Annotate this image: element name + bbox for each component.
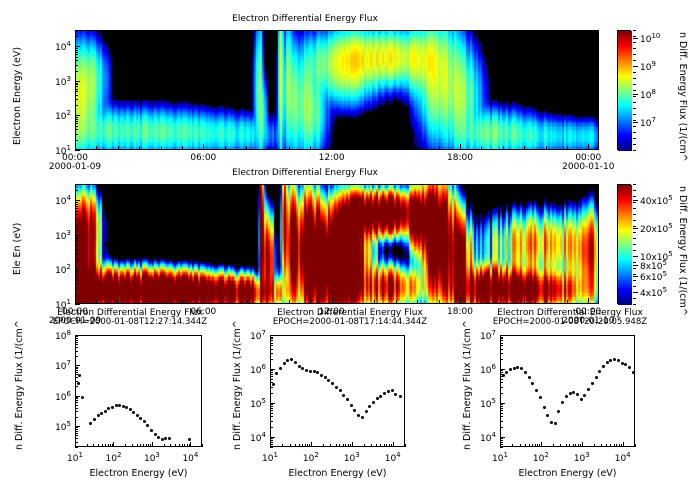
ytick-label: 107	[39, 359, 71, 372]
data-point	[115, 404, 118, 407]
ytick-label: 104	[43, 40, 71, 53]
colorbar-tick-minor	[633, 304, 636, 305]
spectrogram1-colorbar	[617, 30, 631, 150]
ytick-label: 105	[39, 420, 71, 433]
ytick-label: 104	[43, 194, 71, 207]
colorbar-tick-mark	[633, 265, 638, 266]
xtick-minor	[405, 444, 406, 447]
colorbar-tick-minor	[633, 280, 636, 281]
data-point	[324, 376, 327, 379]
colorbar-tick-minor	[633, 72, 636, 73]
data-point	[100, 412, 103, 415]
data-point	[339, 389, 342, 392]
colorbar-tick-minor	[633, 268, 636, 269]
colorbar-tick-minor	[633, 196, 636, 197]
data-point	[331, 382, 334, 385]
xtick-label: 103	[566, 451, 598, 464]
colorbar-tick-minor	[633, 102, 636, 103]
data-point	[111, 406, 114, 409]
data-point	[188, 438, 191, 441]
xtick-label: 103	[136, 451, 168, 464]
data-point	[168, 437, 171, 440]
spectrum3-xlabel: Electron Energy (eV)	[500, 468, 635, 479]
colorbar-tick-minor	[633, 208, 636, 209]
data-point	[275, 372, 278, 375]
data-point	[561, 401, 564, 404]
data-point	[357, 414, 360, 417]
data-point	[546, 414, 549, 417]
data-point	[628, 366, 631, 369]
spectrogram2-colorbar	[617, 184, 631, 304]
spectrum2-epoch: EPOCH=2000-01-08T17:14:44.344Z	[250, 317, 450, 327]
data-point	[557, 410, 560, 413]
xtick-label: 102	[525, 451, 557, 464]
colorbar-tick-minor	[633, 232, 636, 233]
spectrogram1-plot-area	[75, 30, 599, 150]
spectrogram2-plot-area	[75, 184, 599, 304]
data-point	[161, 438, 164, 441]
data-point	[383, 392, 386, 395]
xtick-label: 18:00	[436, 153, 484, 163]
data-point	[107, 407, 110, 410]
data-point	[580, 398, 583, 401]
data-point	[372, 401, 375, 404]
colorbar-tick-minor	[633, 78, 636, 79]
spectrum3-plot-area	[500, 335, 635, 447]
xtick-label: 102	[295, 451, 327, 464]
spectrum2-plot-area	[270, 335, 405, 447]
spectrogram2-colorbar-label: n Diff. Energy Flux (1/(cm^	[677, 186, 688, 316]
colorbar-tick-label: 10x105	[640, 250, 673, 263]
colorbar-tick-minor	[633, 66, 636, 67]
data-point	[621, 362, 624, 365]
data-point	[531, 382, 534, 385]
colorbar-tick-minor	[633, 256, 636, 257]
data-point	[305, 369, 308, 372]
data-point	[125, 406, 128, 409]
xtick-label: 102	[97, 451, 129, 464]
xtick-label: 06:00	[179, 153, 227, 163]
data-point	[346, 398, 349, 401]
data-point	[129, 408, 132, 411]
ytick-minor	[75, 447, 78, 448]
colorbar-tick-mark	[633, 66, 638, 67]
colorbar-tick-minor	[633, 244, 636, 245]
xtick-label: 101	[484, 451, 516, 464]
xtick-label: 00:00	[51, 153, 99, 163]
data-point	[122, 405, 125, 408]
colorbar-tick-minor	[633, 150, 636, 151]
data-point	[376, 397, 379, 400]
colorbar-tick-mark	[633, 122, 638, 123]
xtick-minor	[635, 444, 636, 447]
colorbar-tick-label: 1010	[640, 32, 660, 45]
data-point	[290, 358, 293, 361]
colorbar-tick-minor	[633, 60, 636, 61]
data-point	[513, 367, 516, 370]
data-point	[320, 374, 323, 377]
colorbar-tick-label: 40x105	[640, 194, 673, 207]
data-point	[283, 362, 286, 365]
data-point	[286, 359, 289, 362]
data-point	[365, 410, 368, 413]
spectrum1-epoch: EPOCH=2000-01-08T12:27:14.344Z	[30, 317, 230, 327]
ytick-mark	[75, 150, 80, 151]
data-point	[516, 366, 519, 369]
colorbar-tick-mark	[633, 228, 638, 229]
colorbar-tick-minor	[633, 48, 636, 49]
spectrum1-ylabel: n Diff. Energy Flux (1/(cm^	[14, 320, 25, 450]
colorbar-tick-mark	[633, 256, 638, 257]
colorbar-tick-minor	[633, 214, 636, 215]
spectrogram2-title: Electron Differential Energy Flux	[0, 168, 610, 178]
colorbar-tick-minor	[633, 190, 636, 191]
spectrogram2-ylabel: Ele En (eV)	[12, 223, 23, 275]
data-point	[539, 396, 542, 399]
spectrogram1-colorbar-label: n Diff. Energy Flux (1/(cm^	[677, 32, 688, 162]
spectrum1-plot-area	[75, 335, 202, 447]
colorbar-tick-minor	[633, 220, 636, 221]
ytick-label: 106	[39, 390, 71, 403]
data-point	[595, 376, 598, 379]
data-point	[554, 422, 557, 425]
data-point	[528, 376, 531, 379]
colorbar-tick-minor	[633, 90, 636, 91]
data-point	[502, 374, 505, 377]
data-point	[335, 386, 338, 389]
data-point	[327, 379, 330, 382]
spectrum2-ylabel: n Diff. Energy Flux (1/(cm^	[232, 320, 243, 450]
colorbar-tick-minor	[633, 126, 636, 127]
spectrum3-ylabel: n Diff. Energy Flux (1/(cm^	[462, 320, 473, 450]
colorbar-tick-minor	[633, 30, 636, 31]
colorbar-tick-label: 108	[640, 88, 656, 101]
data-point	[576, 393, 579, 396]
colorbar-tick-minor	[633, 54, 636, 55]
colorbar-tick-minor	[633, 250, 636, 251]
colorbar-tick-mark	[633, 38, 638, 39]
data-point	[104, 410, 107, 413]
data-point	[520, 367, 523, 370]
colorbar-tick-minor	[633, 42, 636, 43]
data-point	[509, 368, 512, 371]
data-point	[543, 406, 546, 409]
data-point	[617, 359, 620, 362]
xtick-label: 103	[336, 451, 368, 464]
colorbar-tick-minor	[633, 144, 636, 145]
colorbar-tick-mark	[633, 94, 638, 95]
data-point	[368, 405, 371, 408]
ytick-mark	[75, 304, 80, 305]
spectrogram1-ylabel: Electron Energy (eV)	[12, 47, 23, 145]
colorbar-tick-mark	[633, 276, 638, 277]
data-point	[154, 433, 157, 436]
data-point	[97, 414, 100, 417]
data-point	[379, 395, 382, 398]
colorbar-tick-minor	[633, 262, 636, 263]
data-point	[569, 392, 572, 395]
data-point	[353, 409, 356, 412]
data-point	[136, 414, 139, 417]
data-point	[361, 416, 364, 419]
data-point	[294, 361, 297, 364]
data-point	[301, 367, 304, 370]
data-point	[524, 371, 527, 374]
data-point	[387, 390, 390, 393]
data-point	[132, 411, 135, 414]
colorbar-tick-minor	[633, 184, 636, 185]
ytick-label: 108	[39, 329, 71, 342]
spectrum2-xlabel: Electron Energy (eV)	[270, 468, 405, 479]
data-point	[118, 404, 121, 407]
xtick-label: 104	[607, 451, 639, 464]
data-point	[535, 389, 538, 392]
data-point	[316, 371, 319, 374]
colorbar-tick-minor	[633, 114, 636, 115]
data-point	[139, 417, 142, 420]
colorbar-tick-minor	[633, 238, 636, 239]
data-point	[505, 371, 508, 374]
data-point	[309, 370, 312, 373]
data-point	[565, 395, 568, 398]
data-point	[77, 382, 80, 385]
data-point	[550, 421, 553, 424]
colorbar-tick-minor	[633, 96, 636, 97]
colorbar-tick-label: 109	[640, 60, 656, 73]
data-point	[609, 359, 612, 362]
data-point	[602, 365, 605, 368]
data-point	[89, 422, 92, 425]
data-point	[613, 358, 616, 361]
colorbar-tick-label: 4x105	[640, 286, 667, 299]
colorbar-tick-minor	[633, 274, 636, 275]
xtick-minor	[202, 444, 203, 447]
data-point	[298, 365, 301, 368]
data-point	[583, 394, 586, 397]
data-point	[143, 420, 146, 423]
data-point	[272, 383, 275, 386]
data-point	[279, 367, 282, 370]
colorbar-tick-minor	[633, 286, 636, 287]
spectrum3-epoch: EPOCH=2000-01-08T20:20:05.948Z	[465, 317, 675, 327]
ytick-label: 103	[43, 229, 71, 242]
data-point	[313, 370, 316, 373]
data-point	[78, 374, 81, 377]
colorbar-tick-label: 107	[640, 116, 656, 129]
ytick-minor	[270, 447, 273, 448]
colorbar-tick-minor	[633, 120, 636, 121]
colorbar-tick-minor	[633, 84, 636, 85]
data-point	[598, 370, 601, 373]
data-point	[157, 436, 160, 439]
ytick-label: 101	[43, 144, 71, 157]
data-point	[624, 363, 627, 366]
xtick-label: 12:00	[308, 153, 356, 163]
colorbar-tick-label: 20x105	[640, 222, 673, 235]
colorbar-tick-label: 6x105	[640, 270, 667, 283]
data-point	[146, 424, 149, 427]
xtick-label: 00:00	[564, 153, 612, 163]
colorbar-tick-minor	[633, 202, 636, 203]
xtick-label: 104	[174, 451, 206, 464]
ytick-minor	[500, 447, 503, 448]
data-point	[391, 389, 394, 392]
ytick-label: 102	[43, 109, 71, 122]
colorbar-tick-minor	[633, 36, 636, 37]
colorbar-tick-minor	[633, 138, 636, 139]
data-point	[81, 396, 84, 399]
xtick-label: 101	[59, 451, 91, 464]
colorbar-tick-minor	[633, 292, 636, 293]
xtick-label: 101	[254, 451, 286, 464]
data-point	[587, 388, 590, 391]
data-point	[350, 404, 353, 407]
data-point	[150, 429, 153, 432]
ytick-label: 102	[43, 263, 71, 276]
colorbar-tick-mark	[633, 292, 638, 293]
data-point	[164, 437, 167, 440]
spectrum1-xlabel: Electron Energy (eV)	[75, 468, 202, 479]
colorbar-tick-minor	[633, 298, 636, 299]
colorbar-tick-label: 8x105	[640, 259, 667, 272]
spectrogram1-title: Electron Differential Energy Flux	[0, 14, 610, 24]
colorbar-tick-minor	[633, 108, 636, 109]
data-point	[93, 418, 96, 421]
data-point	[572, 391, 575, 394]
ytick-label: 103	[43, 75, 71, 88]
colorbar-tick-minor	[633, 226, 636, 227]
data-point	[632, 371, 635, 374]
colorbar-tick-mark	[633, 200, 638, 201]
data-point	[591, 382, 594, 385]
data-point	[394, 393, 397, 396]
colorbar-tick-minor	[633, 132, 636, 133]
xtick-label: 104	[377, 451, 409, 464]
data-point	[606, 361, 609, 364]
data-point	[342, 394, 345, 397]
data-point	[399, 395, 402, 398]
